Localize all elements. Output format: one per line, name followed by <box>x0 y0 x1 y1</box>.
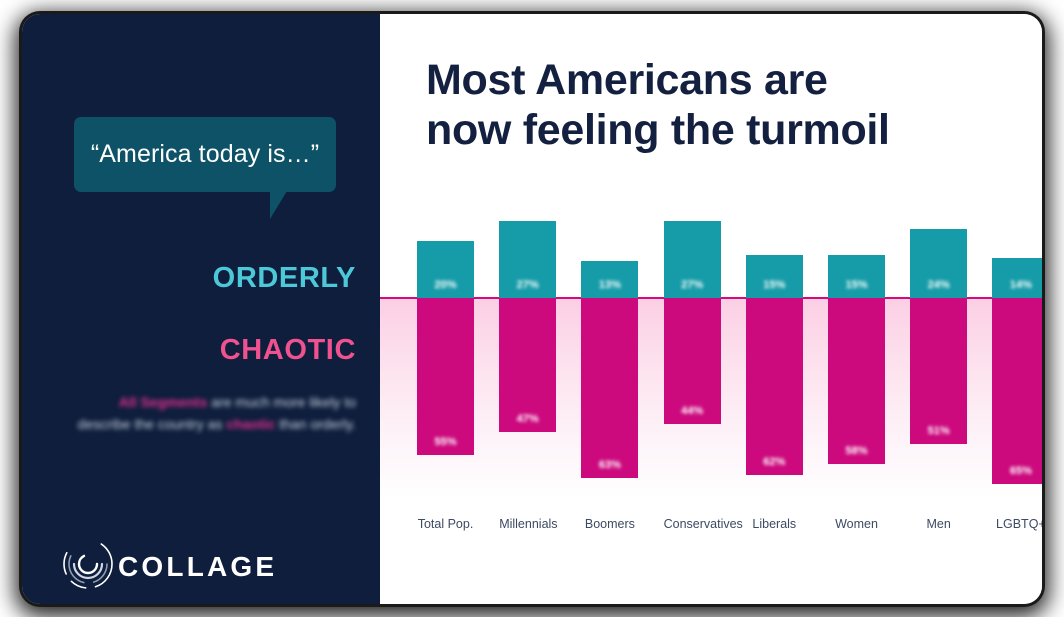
blurb-suffix: than orderly. <box>275 416 356 432</box>
bar-value-label: 14% <box>1010 279 1032 298</box>
bar-value-label: 62% <box>763 456 785 475</box>
bar-group: 24%51%Men <box>910 14 967 604</box>
x-axis-label: Men <box>910 517 967 531</box>
chart-panel: Most Americans are now feeling the turmo… <box>380 14 1042 604</box>
bar-series-container: 20%55%Total Pop.27%47%Millennials13%63%B… <box>380 14 1042 604</box>
bar-chaotic: 65% <box>992 298 1042 484</box>
legend-chaotic: CHAOTIC <box>22 334 356 367</box>
bar-group: 15%62%Liberals <box>746 14 803 604</box>
bar-orderly: 14% <box>992 258 1042 298</box>
bar-value-label: 15% <box>763 279 785 298</box>
bar-value-label: 13% <box>599 279 621 298</box>
legend-orderly: ORDERLY <box>22 262 356 295</box>
quote-bubble-tail <box>270 191 287 219</box>
bar-chaotic: 51% <box>910 298 967 444</box>
bar-chaotic: 44% <box>664 298 721 424</box>
bar-value-label: 24% <box>928 279 950 298</box>
collage-logo: COLLAGE <box>62 538 312 598</box>
bar-value-label: 47% <box>517 413 539 432</box>
bar-group: 20%55%Total Pop. <box>417 14 474 604</box>
x-axis-label: Liberals <box>746 517 803 531</box>
quote-bubble: “America today is…” <box>74 117 336 192</box>
left-panel: “America today is…” ORDERLY CHAOTIC All … <box>22 14 380 604</box>
blurb-prefix: All Segments <box>119 394 208 410</box>
insight-blurb: All Segments are much more likely to des… <box>70 392 356 435</box>
collage-logo-text: COLLAGE <box>118 551 277 583</box>
bar-value-label: 55% <box>434 436 456 455</box>
bar-value-label: 15% <box>845 279 867 298</box>
bar-orderly: 24% <box>910 229 967 298</box>
bar-orderly: 27% <box>499 221 556 298</box>
bar-chart: 20%55%Total Pop.27%47%Millennials13%63%B… <box>380 14 1042 604</box>
bar-value-label: 63% <box>599 459 621 478</box>
bar-chaotic: 58% <box>828 298 885 464</box>
bar-orderly: 13% <box>581 261 638 298</box>
bar-group: 27%44%Conservatives <box>664 14 721 604</box>
bar-chaotic: 55% <box>417 298 474 455</box>
bar-value-label: 27% <box>681 279 703 298</box>
bar-orderly: 27% <box>664 221 721 298</box>
bar-value-label: 65% <box>1010 465 1032 484</box>
x-axis-label: Total Pop. <box>417 517 474 531</box>
bar-chaotic: 63% <box>581 298 638 478</box>
bar-group: 14%65%LGBTQ+ <box>992 14 1042 604</box>
x-axis-label: Millennials <box>499 517 556 531</box>
bar-value-label: 20% <box>434 279 456 298</box>
x-axis-label: Women <box>828 517 885 531</box>
x-axis-label: Boomers <box>581 517 638 531</box>
bar-value-label: 58% <box>845 445 867 464</box>
blurb-highlight: chaotic <box>226 416 275 432</box>
quote-bubble-text: “America today is…” <box>74 117 336 192</box>
bar-chaotic: 47% <box>499 298 556 432</box>
bar-orderly: 20% <box>417 241 474 298</box>
bar-value-label: 44% <box>681 405 703 424</box>
infographic-card: “America today is…” ORDERLY CHAOTIC All … <box>22 14 1042 604</box>
x-axis-label: LGBTQ+ <box>992 517 1042 531</box>
bar-value-label: 51% <box>928 425 950 444</box>
bar-group: 13%63%Boomers <box>581 14 638 604</box>
bar-group: 15%58%Women <box>828 14 885 604</box>
collage-logo-mark <box>62 538 114 590</box>
bar-orderly: 15% <box>746 255 803 298</box>
bar-orderly: 15% <box>828 255 885 298</box>
x-axis-label: Conservatives <box>664 517 721 531</box>
bar-group: 27%47%Millennials <box>499 14 556 604</box>
bar-chaotic: 62% <box>746 298 803 475</box>
bar-value-label: 27% <box>517 279 539 298</box>
